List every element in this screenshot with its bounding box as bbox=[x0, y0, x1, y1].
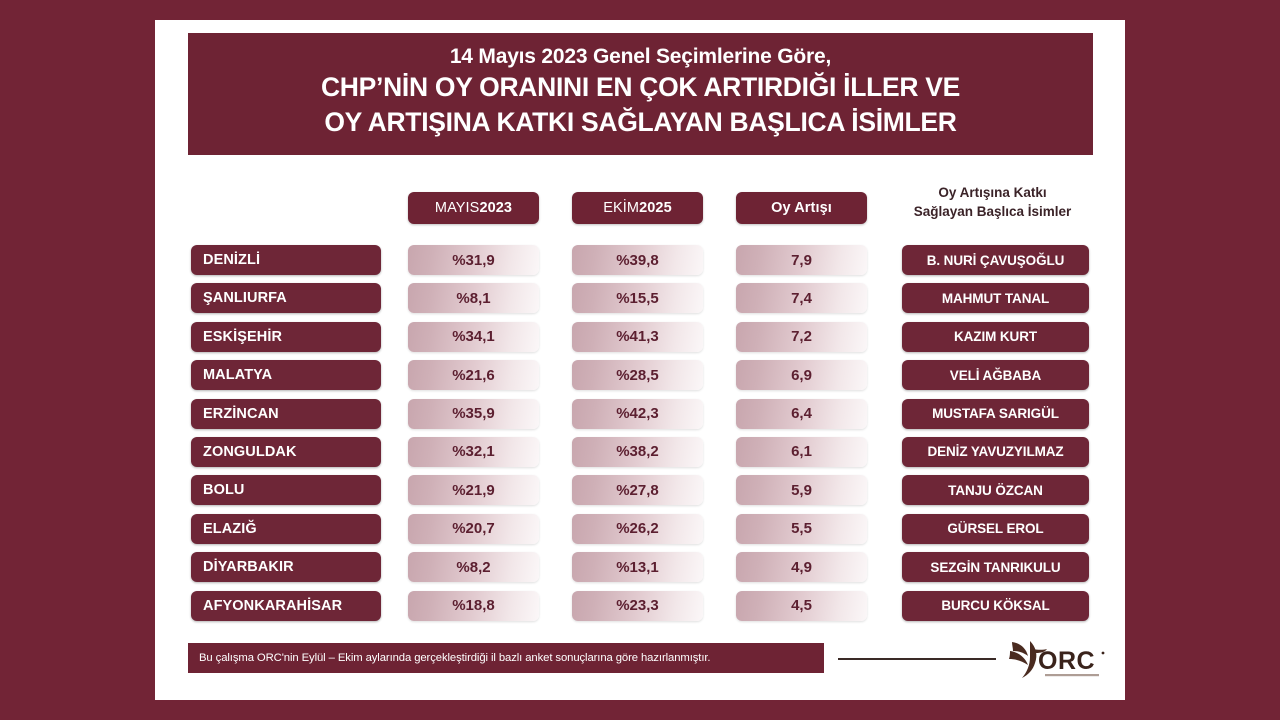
table-cell-name: BURCU KÖKSAL bbox=[902, 591, 1089, 621]
infographic-card: 14 Mayıs 2023 Genel Seçimlerine Göre, CH… bbox=[155, 20, 1125, 700]
title-heading-line-2: OY ARTIŞINA KATKI SAĞLAYAN BAŞLICA İSİML… bbox=[324, 105, 956, 140]
table-cell-name: VELİ AĞBABA bbox=[902, 360, 1089, 390]
column-header-oy-artisi: Oy Artışı bbox=[736, 192, 867, 224]
table-cell-ekim-2025: %39,8 bbox=[572, 245, 703, 275]
title-heading-line-1: CHP’NİN OY ORANINI EN ÇOK ARTIRDIĞI İLLE… bbox=[321, 70, 960, 105]
table-cell-ekim-2025: %15,5 bbox=[572, 283, 703, 313]
table-cell-city: ESKİŞEHİR bbox=[191, 322, 381, 352]
table-row: AFYONKARAHİSAR%18,8%23,34,5BURCU KÖKSAL bbox=[155, 591, 1125, 629]
table-cell-city: DENİZLİ bbox=[191, 245, 381, 275]
table-cell-oy-artisi: 7,4 bbox=[736, 283, 867, 313]
column-header-mayis-label: MAYIS bbox=[435, 200, 480, 216]
table-row: ZONGULDAK%32,1%38,26,1DENİZ YAVUZYILMAZ bbox=[155, 437, 1125, 475]
table-row: ESKİŞEHİR%34,1%41,37,2KAZIM KURT bbox=[155, 322, 1125, 360]
table-cell-name: MAHMUT TANAL bbox=[902, 283, 1089, 313]
column-header-mayis-year: 2023 bbox=[479, 200, 512, 216]
table-cell-mayis-2023: %20,7 bbox=[408, 514, 539, 544]
column-header-names: Oy Artışına Katkı Sağlayan Başlıca İsiml… bbox=[885, 183, 1100, 221]
table-row: ERZİNCAN%35,9%42,36,4MUSTAFA SARIGÜL bbox=[155, 399, 1125, 437]
table-row: DİYARBAKIR%8,2%13,14,9SEZGİN TANRIKULU bbox=[155, 552, 1125, 590]
table-cell-mayis-2023: %32,1 bbox=[408, 437, 539, 467]
table-cell-name: MUSTAFA SARIGÜL bbox=[902, 399, 1089, 429]
table-cell-mayis-2023: %21,9 bbox=[408, 475, 539, 505]
table-cell-oy-artisi: 6,9 bbox=[736, 360, 867, 390]
table-cell-name: DENİZ YAVUZYILMAZ bbox=[902, 437, 1089, 467]
data-table-body: DENİZLİ%31,9%39,87,9B. NURİ ÇAVUŞOĞLUŞAN… bbox=[155, 245, 1125, 629]
table-row: MALATYA%21,6%28,56,9VELİ AĞBABA bbox=[155, 360, 1125, 398]
table-cell-oy-artisi: 6,4 bbox=[736, 399, 867, 429]
column-header-mayis-2023: MAYIS 2023 bbox=[408, 192, 539, 224]
table-cell-mayis-2023: %34,1 bbox=[408, 322, 539, 352]
table-cell-mayis-2023: %21,6 bbox=[408, 360, 539, 390]
table-cell-ekim-2025: %42,3 bbox=[572, 399, 703, 429]
table-cell-name: KAZIM KURT bbox=[902, 322, 1089, 352]
table-cell-city: DİYARBAKIR bbox=[191, 552, 381, 582]
table-cell-ekim-2025: %41,3 bbox=[572, 322, 703, 352]
footer-methodology-note: Bu çalışma ORC'nin Eylül – Ekim aylarınd… bbox=[188, 643, 824, 673]
column-header-ekim-label: EKİM bbox=[603, 200, 639, 216]
title-banner: 14 Mayıs 2023 Genel Seçimlerine Göre, CH… bbox=[188, 33, 1093, 155]
table-cell-mayis-2023: %18,8 bbox=[408, 591, 539, 621]
table-row: BOLU%21,9%27,85,9TANJU ÖZCAN bbox=[155, 475, 1125, 513]
table-cell-oy-artisi: 4,5 bbox=[736, 591, 867, 621]
orc-logo-tagline bbox=[1045, 674, 1099, 676]
table-cell-city: MALATYA bbox=[191, 360, 381, 390]
table-cell-oy-artisi: 7,9 bbox=[736, 245, 867, 275]
footer: Bu çalışma ORC'nin Eylül – Ekim aylarınd… bbox=[155, 637, 1125, 683]
table-cell-ekim-2025: %27,8 bbox=[572, 475, 703, 505]
table-cell-ekim-2025: %38,2 bbox=[572, 437, 703, 467]
table-cell-city: AFYONKARAHİSAR bbox=[191, 591, 381, 621]
table-cell-mayis-2023: %31,9 bbox=[408, 245, 539, 275]
footer-divider bbox=[838, 658, 996, 660]
table-cell-city: ELAZIĞ bbox=[191, 514, 381, 544]
table-row: ELAZIĞ%20,7%26,25,5GÜRSEL EROL bbox=[155, 514, 1125, 552]
column-header-ekim-year: 2025 bbox=[639, 200, 672, 216]
orc-logo: ORC bbox=[1000, 637, 1112, 683]
table-cell-ekim-2025: %23,3 bbox=[572, 591, 703, 621]
table-cell-name: SEZGİN TANRIKULU bbox=[902, 552, 1089, 582]
column-header-ekim-2025: EKİM 2025 bbox=[572, 192, 703, 224]
table-cell-oy-artisi: 7,2 bbox=[736, 322, 867, 352]
table-cell-city: ŞANLIURFA bbox=[191, 283, 381, 313]
orc-logo-wordmark: ORC bbox=[1038, 647, 1104, 675]
table-cell-ekim-2025: %13,1 bbox=[572, 552, 703, 582]
title-subheading: 14 Mayıs 2023 Genel Seçimlerine Göre, bbox=[450, 44, 831, 71]
poster-background: 14 Mayıs 2023 Genel Seçimlerine Göre, CH… bbox=[0, 0, 1280, 720]
table-cell-oy-artisi: 5,5 bbox=[736, 514, 867, 544]
table-cell-oy-artisi: 5,9 bbox=[736, 475, 867, 505]
table-row: ŞANLIURFA%8,1%15,57,4MAHMUT TANAL bbox=[155, 283, 1125, 321]
table-cell-mayis-2023: %8,2 bbox=[408, 552, 539, 582]
table-cell-city: ZONGULDAK bbox=[191, 437, 381, 467]
table-cell-mayis-2023: %35,9 bbox=[408, 399, 539, 429]
table-cell-ekim-2025: %28,5 bbox=[572, 360, 703, 390]
column-header-names-line-2: Sağlayan Başlıca İsimler bbox=[885, 202, 1100, 221]
table-cell-oy-artisi: 6,1 bbox=[736, 437, 867, 467]
table-cell-name: GÜRSEL EROL bbox=[902, 514, 1089, 544]
column-header-names-line-1: Oy Artışına Katkı bbox=[885, 183, 1100, 202]
table-cell-mayis-2023: %8,1 bbox=[408, 283, 539, 313]
table-cell-oy-artisi: 4,9 bbox=[736, 552, 867, 582]
svg-text:ORC: ORC bbox=[1038, 647, 1095, 675]
table-cell-city: ERZİNCAN bbox=[191, 399, 381, 429]
table-cell-name: TANJU ÖZCAN bbox=[902, 475, 1089, 505]
table-cell-city: BOLU bbox=[191, 475, 381, 505]
table-cell-ekim-2025: %26,2 bbox=[572, 514, 703, 544]
column-header-row: MAYIS 2023 EKİM 2025 Oy Artışı Oy Artışı… bbox=[155, 175, 1125, 233]
table-row: DENİZLİ%31,9%39,87,9B. NURİ ÇAVUŞOĞLU bbox=[155, 245, 1125, 283]
table-cell-name: B. NURİ ÇAVUŞOĞLU bbox=[902, 245, 1089, 275]
